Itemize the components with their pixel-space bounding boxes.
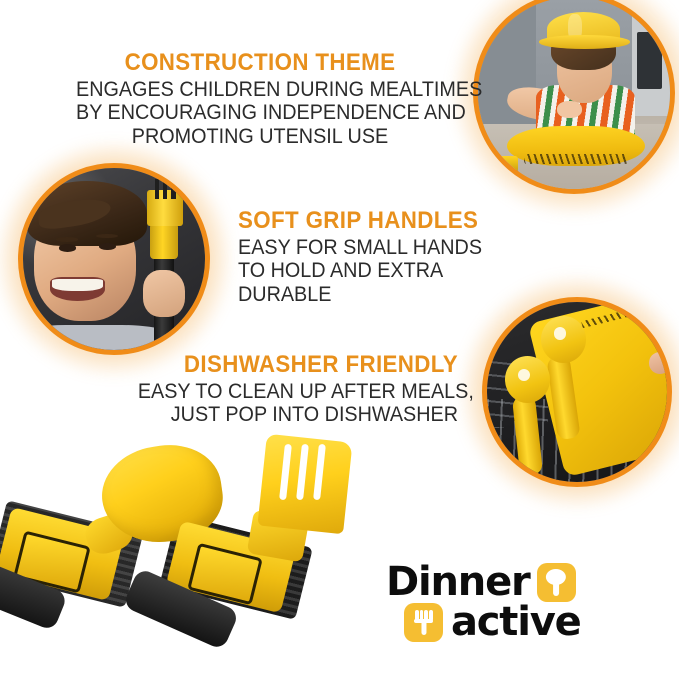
feature-body-line: JUST POP INTO DISHWASHER (138, 403, 458, 426)
feature-body-line: PROMOTING UTENSIL USE (76, 125, 444, 148)
feature-text-softgrip: SOFT GRIP HANDLES EASY FOR SMALL HANDS T… (238, 208, 498, 306)
feature-body-dishwasher: EASY TO CLEAN UP AFTER MEALS, JUST POP I… (138, 380, 458, 426)
feature-body-line: EASY FOR SMALL HANDS (238, 236, 477, 259)
feature-body-line: DURABLE (238, 283, 477, 306)
feature-body-line: TO HOLD AND EXTRA (238, 259, 477, 282)
feature-body-softgrip: EASY FOR SMALL HANDS TO HOLD AND EXTRA D… (238, 236, 477, 306)
feature-body-line: ENGAGES CHILDREN DURING MEALTIMES (76, 78, 444, 101)
feature-headline-dishwasher: DISHWASHER FRIENDLY (134, 352, 458, 377)
photo-utensils-dishwasher (487, 302, 667, 482)
brand-logo-bottom-row: active (404, 602, 581, 642)
feature-body-construction: ENGAGES CHILDREN DURING MEALTIMES BY ENC… (76, 78, 444, 148)
soft-grip-handles-photo (18, 163, 210, 355)
construction-theme-photo (473, 0, 675, 194)
photo-boy-with-fork (23, 168, 205, 350)
brand-logo-top-row: Dinner (386, 562, 576, 602)
feature-text-construction: CONSTRUCTION THEME ENGAGES CHILDREN DURI… (60, 50, 460, 148)
infographic-canvas: CONSTRUCTION THEME ENGAGES CHILDREN DURI… (0, 0, 679, 684)
dishwasher-friendly-photo (482, 297, 672, 487)
feature-text-dishwasher: DISHWASHER FRIENDLY EASY TO CLEAN UP AFT… (110, 352, 458, 427)
feature-body-line: BY ENCOURAGING INDEPENDENCE AND (76, 101, 444, 124)
feature-headline-softgrip: SOFT GRIP HANDLES (238, 208, 480, 233)
brand-name-active: active (451, 602, 581, 642)
brand-logo: Dinner active (386, 562, 671, 658)
feature-headline-construction: CONSTRUCTION THEME (74, 50, 446, 75)
fork-icon (404, 603, 443, 642)
product-utensils-photo (0, 438, 354, 684)
photo-boy-hardhat (478, 0, 670, 189)
brand-name-dinner: Dinner (386, 562, 530, 602)
feature-body-line: EASY TO CLEAN UP AFTER MEALS, (138, 380, 458, 403)
spoon-icon (537, 563, 576, 602)
